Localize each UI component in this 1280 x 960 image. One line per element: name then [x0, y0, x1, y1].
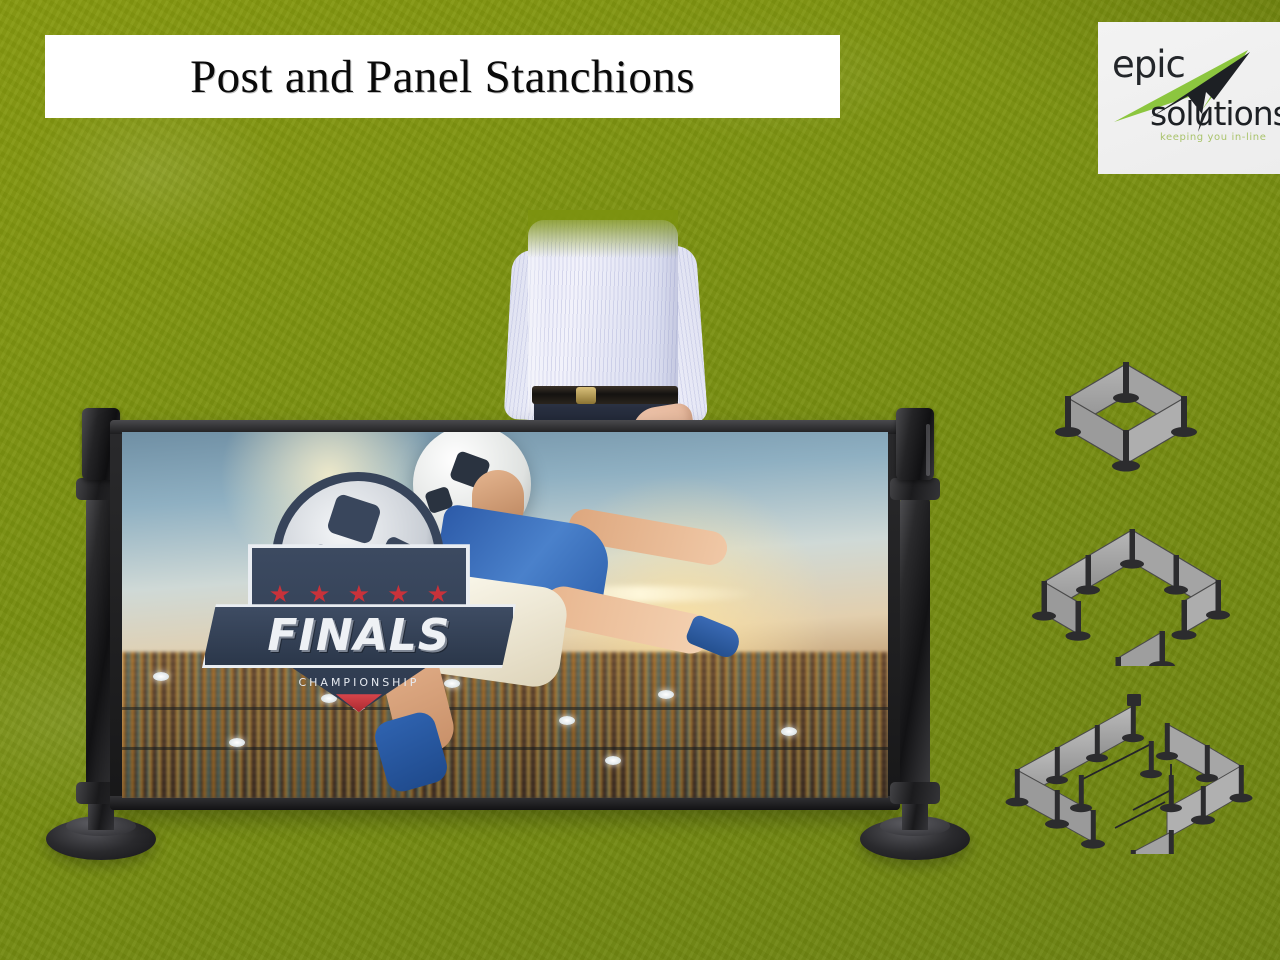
star-icon	[349, 585, 369, 604]
crest-subtitle: CHAMPIONSHIP	[274, 676, 444, 689]
logo-word-solutions: solutions	[1150, 97, 1280, 130]
slide-canvas: Post and Panel Stanchions epic solutions…	[0, 0, 1280, 960]
page-title: Post and Panel Stanchions	[190, 50, 695, 104]
crest-stars	[270, 584, 448, 604]
post-tube-right	[900, 498, 930, 788]
product-photo: CHAMPIONSHIP FINALS	[40, 400, 970, 870]
logo-word-epic: epic	[1112, 46, 1185, 83]
crest-triangle	[336, 694, 382, 712]
logo-tagline: keeping you in-line	[1160, 132, 1266, 143]
panel-graphic: CHAMPIONSHIP FINALS	[122, 432, 888, 798]
belt-slot-right	[926, 424, 930, 476]
brand-logo[interactable]: epic solutions keeping you in-line	[1098, 22, 1280, 174]
crest-title-bar: FINALS	[202, 604, 516, 668]
stanchion-post-right[interactable]	[878, 400, 948, 870]
panel-frame[interactable]: CHAMPIONSHIP FINALS	[110, 420, 900, 810]
post-upper-collar-right	[890, 478, 940, 500]
post-neck-right	[902, 802, 928, 830]
page-title-box: Post and Panel Stanchions	[45, 35, 840, 118]
belt-buckle	[576, 387, 596, 404]
star-icon	[388, 585, 408, 604]
frame-bottom-rail	[110, 796, 900, 810]
diagram-square-enclosure[interactable]	[1030, 350, 1230, 475]
diagram-u-enclosure[interactable]	[1018, 518, 1250, 666]
head-crop-fade	[528, 210, 678, 258]
finals-crest: CHAMPIONSHIP FINALS	[214, 472, 504, 722]
diagram-queue-maze[interactable]	[995, 692, 1257, 854]
belt	[532, 386, 678, 404]
star-icon	[270, 585, 290, 604]
post-lower-collar-right	[890, 782, 940, 804]
crest-title: FINALS	[267, 614, 450, 658]
star-icon	[309, 585, 329, 604]
star-icon	[428, 585, 448, 604]
belt-head-right	[896, 408, 934, 480]
